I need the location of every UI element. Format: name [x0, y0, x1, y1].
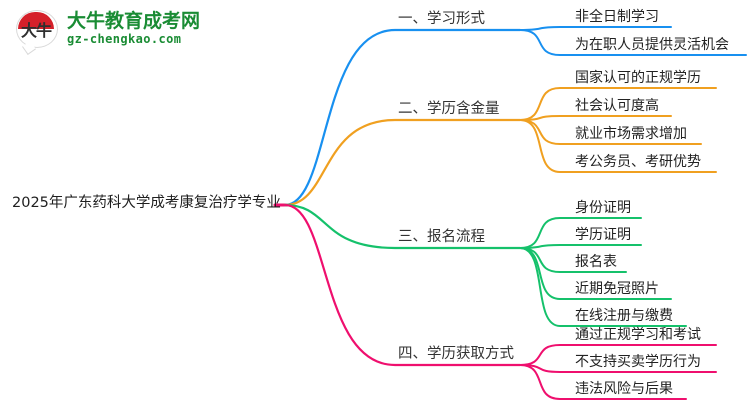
branch-label-3[interactable]: 三、报名流程 [398, 228, 485, 246]
leaf-label-2-1[interactable]: 国家认可的正规学历 [575, 69, 701, 87]
leaf-label-1-1[interactable]: 非全日制学习 [575, 8, 659, 26]
leaf-label-3-4[interactable]: 近期免冠照片 [575, 280, 659, 298]
leaf-label-3-5[interactable]: 在线注册与缴费 [575, 307, 673, 325]
root-node-label: 2025年广东药科大学成考康复治疗学专业 [12, 193, 281, 213]
logo-title: 大牛教育成考网 [67, 11, 200, 32]
branch-label-1[interactable]: 一、学习形式 [398, 10, 485, 28]
logo-domain: gz-chengkao.com [67, 32, 200, 47]
leaf-label-2-2[interactable]: 社会认可度高 [575, 97, 659, 115]
leaf-label-2-4[interactable]: 考公务员、考研优势 [575, 153, 701, 171]
leaf-label-4-1[interactable]: 通过正规学习和考试 [575, 326, 701, 344]
logo-mark-text: 大牛 [14, 14, 58, 44]
mindmap-canvas: 大牛 大牛教育成考网 gz-chengkao.com 2025年广东药科大学成考… [0, 0, 750, 410]
logo-text-block: 大牛教育成考网 gz-chengkao.com [67, 11, 200, 47]
leaf-label-1-2[interactable]: 为在职人员提供灵活机会 [575, 36, 729, 54]
leaf-label-4-3[interactable]: 违法风险与后果 [575, 380, 673, 398]
site-logo[interactable]: 大牛 大牛教育成考网 gz-chengkao.com [14, 6, 194, 52]
branch-label-2[interactable]: 二、学历含金量 [398, 100, 500, 118]
leaf-label-3-1[interactable]: 身份证明 [575, 199, 631, 217]
branch-label-4[interactable]: 四、学历获取方式 [398, 345, 514, 363]
leaf-label-4-2[interactable]: 不支持买卖学历行为 [575, 353, 701, 371]
leaf-label-2-3[interactable]: 就业市场需求增加 [575, 125, 687, 143]
leaf-label-3-3[interactable]: 报名表 [575, 253, 617, 271]
logo-icon: 大牛 [14, 8, 60, 50]
leaf-label-3-2[interactable]: 学历证明 [575, 226, 631, 244]
